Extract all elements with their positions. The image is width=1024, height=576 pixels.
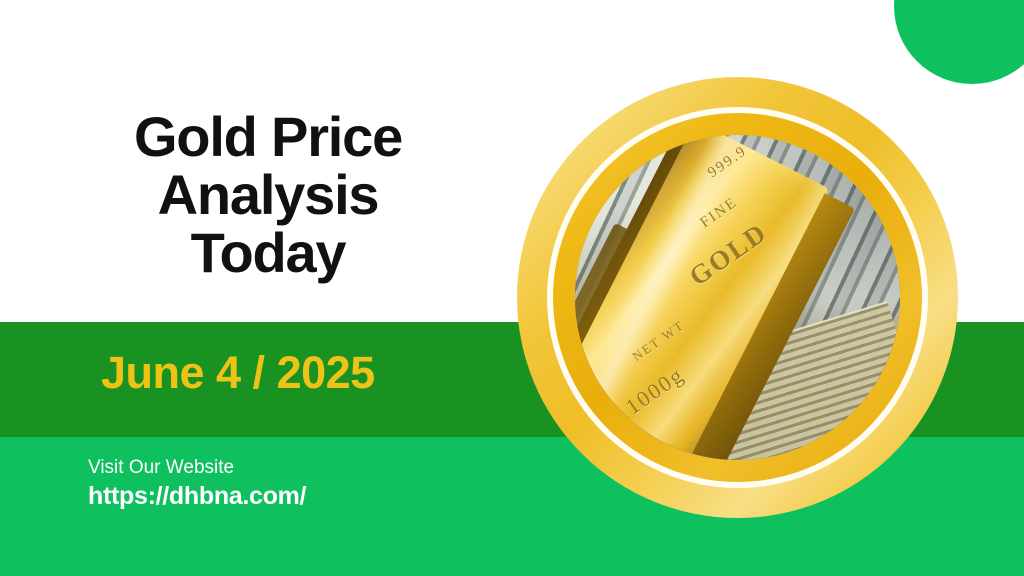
headline-line-2: Analysis xyxy=(58,166,478,224)
website-url[interactable]: https://dhbna.com/ xyxy=(88,481,306,512)
poster-canvas: 999.9 FINE GOLD NET WT 1000g Gold Price … xyxy=(0,0,1024,576)
gold-badge: 999.9 FINE GOLD NET WT 1000g xyxy=(517,77,958,518)
headline-line-1: Gold Price xyxy=(58,108,478,166)
page-title: Gold Price Analysis Today xyxy=(58,108,478,283)
website-block: Visit Our Website https://dhbna.com/ xyxy=(88,455,306,512)
date-text: June 4 / 2025 xyxy=(101,350,375,395)
headline-line-3: Today xyxy=(58,224,478,282)
gold-bar-photo: 999.9 FINE GOLD NET WT 1000g xyxy=(575,135,900,460)
date-banner: June 4 / 2025 xyxy=(101,350,375,395)
corner-accent-circle xyxy=(894,0,1024,84)
website-label: Visit Our Website xyxy=(88,455,306,481)
